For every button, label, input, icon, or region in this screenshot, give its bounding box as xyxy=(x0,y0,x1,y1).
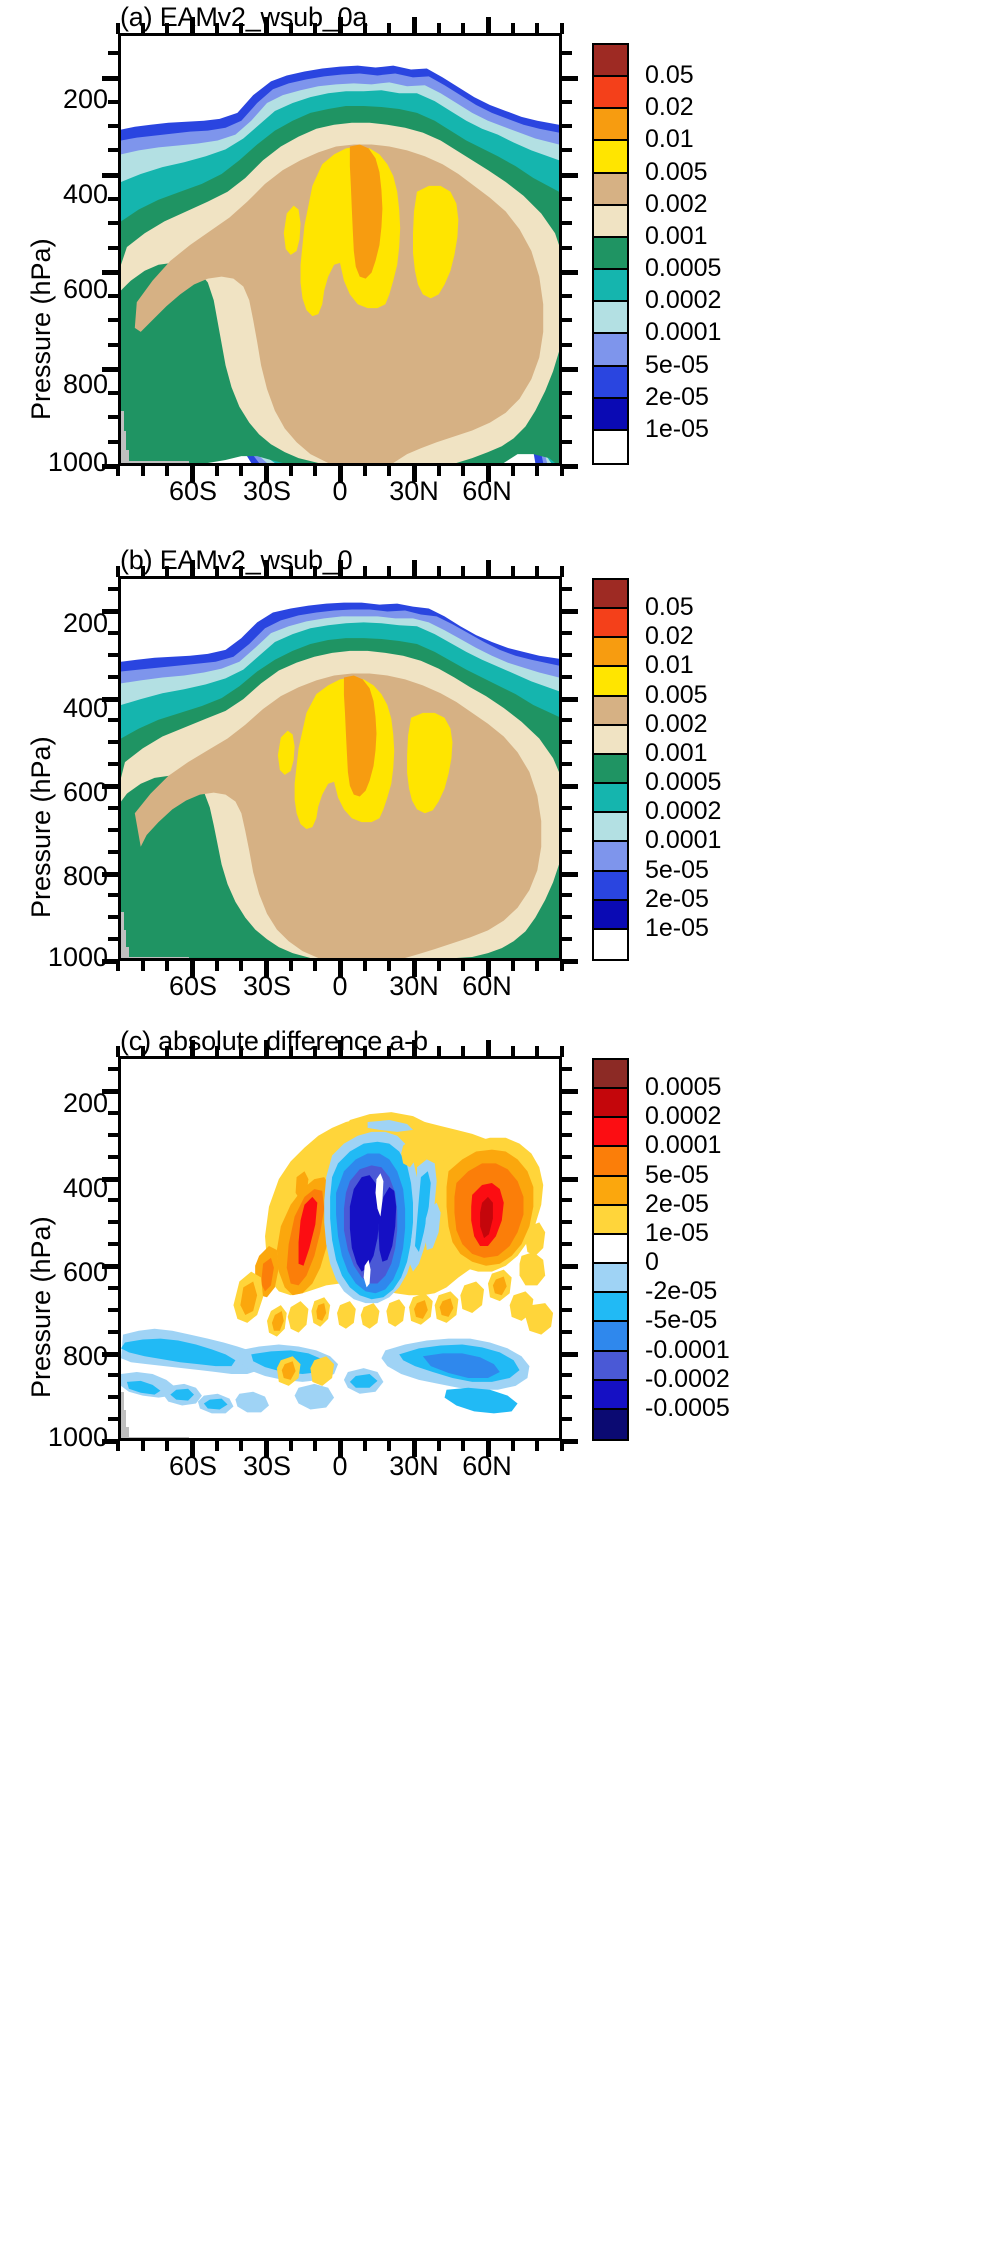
colorbar-cell xyxy=(594,813,627,842)
terrain-mask xyxy=(121,947,129,961)
axis-tick xyxy=(561,915,572,919)
axis-tick xyxy=(108,124,119,128)
colorbar-label: -2e-05 xyxy=(645,1277,717,1306)
terrain-mask xyxy=(121,450,129,466)
axis-tick xyxy=(108,806,119,810)
axis-tick xyxy=(560,23,564,34)
colorbar-label: 1e-05 xyxy=(645,1219,709,1248)
colorbar-label: 0.01 xyxy=(645,651,694,680)
axis-tick xyxy=(363,1440,367,1451)
axis-tick xyxy=(561,937,572,941)
axis-tick xyxy=(461,465,465,476)
axis-tick xyxy=(486,560,491,577)
axis-tick xyxy=(116,23,120,34)
colorbar-cell xyxy=(594,755,627,784)
axis-tick xyxy=(511,566,515,577)
axis-tick xyxy=(215,23,219,34)
panel-c-ytick-400: 400 xyxy=(20,1173,108,1204)
axis-tick xyxy=(437,1046,441,1057)
axis-tick xyxy=(108,197,119,201)
colorbar-cell xyxy=(594,238,627,270)
colorbar-cell xyxy=(594,1118,627,1147)
axis-tick xyxy=(561,1308,572,1312)
axis-tick xyxy=(313,465,317,476)
terrain-mask xyxy=(121,957,189,961)
axis-tick xyxy=(165,465,169,476)
axis-tick xyxy=(437,566,441,577)
axis-tick xyxy=(511,23,515,34)
axis-tick xyxy=(561,872,578,877)
axis-tick xyxy=(561,1177,578,1182)
axis-tick xyxy=(561,675,572,679)
axis-tick xyxy=(363,1046,367,1057)
axis-tick xyxy=(108,1111,119,1115)
panel-b-contours xyxy=(121,579,559,958)
colorbar-cell xyxy=(594,638,627,667)
axis-tick xyxy=(264,560,269,577)
axis-tick xyxy=(561,415,572,419)
axis-tick xyxy=(511,960,515,971)
axis-tick xyxy=(486,17,491,34)
axis-tick xyxy=(412,17,417,34)
axis-tick xyxy=(313,23,317,34)
axis-tick xyxy=(561,893,572,897)
axis-tick xyxy=(116,960,120,971)
axis-tick xyxy=(239,1440,243,1451)
colorbar-cell xyxy=(594,609,627,638)
colorbar-label: 0.0005 xyxy=(645,768,721,797)
axis-tick xyxy=(108,1417,119,1421)
axis-tick xyxy=(108,653,119,657)
axis-tick xyxy=(108,318,119,322)
colorbar-label: 5e-05 xyxy=(645,1161,709,1190)
axis-tick xyxy=(313,1046,317,1057)
axis-tick xyxy=(387,23,391,34)
colorbar-cell xyxy=(594,580,627,609)
axis-tick xyxy=(338,1040,343,1057)
axis-tick xyxy=(108,1373,119,1377)
axis-tick xyxy=(313,566,317,577)
axis-tick xyxy=(102,367,119,372)
axis-tick xyxy=(141,23,145,34)
axis-tick xyxy=(412,1440,417,1457)
axis-tick xyxy=(363,23,367,34)
axis-tick xyxy=(102,872,119,877)
axis-tick xyxy=(165,566,169,577)
axis-tick xyxy=(264,17,269,34)
axis-tick xyxy=(102,270,119,275)
axis-tick xyxy=(561,173,578,178)
axis-tick xyxy=(264,960,269,977)
panel-b-ytick-400: 400 xyxy=(20,693,108,724)
axis-tick xyxy=(190,960,195,977)
axis-tick xyxy=(561,318,572,322)
colorbar-cell xyxy=(594,174,627,206)
colorbar-label: 0.02 xyxy=(645,93,694,122)
axis-tick xyxy=(108,1198,119,1202)
axis-tick xyxy=(412,465,417,482)
axis-tick xyxy=(116,1046,120,1057)
colorbar-label: 0.0002 xyxy=(645,797,721,826)
panel-b-ytick-200: 200 xyxy=(20,608,108,639)
axis-tick xyxy=(437,960,441,971)
colorbar-cell xyxy=(594,77,627,109)
axis-tick xyxy=(561,1198,572,1202)
axis-tick xyxy=(102,76,119,81)
axis-tick xyxy=(561,697,578,702)
axis-tick xyxy=(338,17,343,34)
axis-tick xyxy=(108,675,119,679)
axis-tick xyxy=(108,915,119,919)
axis-tick xyxy=(535,23,539,34)
axis-tick xyxy=(108,937,119,941)
axis-tick xyxy=(561,1155,572,1159)
axis-tick xyxy=(289,465,293,476)
axis-tick xyxy=(535,1440,539,1451)
axis-tick xyxy=(141,1046,145,1057)
colorbar-label: 0.002 xyxy=(645,710,708,739)
axis-tick xyxy=(239,23,243,34)
axis-tick xyxy=(338,1440,343,1457)
axis-tick xyxy=(561,391,572,395)
colorbar-cell xyxy=(594,1410,627,1439)
colorbar-cell xyxy=(594,1322,627,1351)
axis-tick xyxy=(561,784,578,789)
panel-a-title: (a) EAMv2_wsub_0a xyxy=(120,2,367,33)
axis-tick xyxy=(387,960,391,971)
terrain-mask xyxy=(121,1410,126,1428)
axis-tick xyxy=(461,1046,465,1057)
axis-tick xyxy=(102,173,119,178)
colorbar-label: 0.02 xyxy=(645,622,694,651)
axis-tick xyxy=(561,221,572,225)
axis-tick xyxy=(215,566,219,577)
axis-tick xyxy=(215,1440,219,1451)
colorbar-cell xyxy=(594,726,627,755)
axis-tick xyxy=(561,270,578,275)
axis-tick xyxy=(412,1040,417,1057)
axis-tick xyxy=(190,465,195,482)
axis-tick xyxy=(165,1046,169,1057)
axis-tick xyxy=(363,960,367,971)
axis-tick xyxy=(190,17,195,34)
axis-tick xyxy=(561,246,572,250)
axis-tick xyxy=(561,587,572,591)
axis-tick xyxy=(108,1308,119,1312)
axis-tick xyxy=(561,1373,572,1377)
axis-tick xyxy=(535,566,539,577)
axis-tick xyxy=(511,1046,515,1057)
colorbar-label: 0.005 xyxy=(645,158,708,187)
terrain-mask xyxy=(121,411,124,433)
axis-tick xyxy=(461,23,465,34)
axis-tick xyxy=(102,697,119,702)
colorbar-label: 0.001 xyxy=(645,739,708,768)
axis-tick xyxy=(535,960,539,971)
axis-tick xyxy=(461,960,465,971)
axis-tick xyxy=(116,566,120,577)
axis-tick xyxy=(102,1177,119,1182)
axis-tick xyxy=(264,1440,269,1457)
colorbar-label: -0.0001 xyxy=(645,1336,730,1365)
colorbar-label: 0.0002 xyxy=(645,1102,721,1131)
axis-tick xyxy=(561,124,572,128)
axis-tick xyxy=(141,1440,145,1451)
colorbar-cell xyxy=(594,1293,627,1322)
axis-tick xyxy=(108,1220,119,1224)
axis-tick xyxy=(561,197,572,201)
colorbar-label: 0.0001 xyxy=(645,826,721,855)
colorbar-cell xyxy=(594,1147,627,1176)
colorbar-cell xyxy=(594,872,627,901)
axis-tick xyxy=(461,566,465,577)
axis-tick xyxy=(561,806,572,810)
panel-b-ytick-1000: 1000 xyxy=(6,942,108,973)
axis-tick xyxy=(141,566,145,577)
colorbar-label: -5e-05 xyxy=(645,1306,717,1335)
axis-tick xyxy=(561,294,572,298)
colorbar-cell xyxy=(594,1352,627,1381)
axis-tick xyxy=(108,294,119,298)
axis-tick xyxy=(116,1440,120,1451)
axis-tick xyxy=(560,1440,564,1451)
axis-tick xyxy=(289,1440,293,1451)
axis-tick xyxy=(313,1440,317,1451)
colorbar-label: 2e-05 xyxy=(645,885,709,914)
axis-tick xyxy=(363,465,367,476)
axis-tick xyxy=(561,1242,572,1246)
axis-tick xyxy=(215,465,219,476)
axis-tick xyxy=(561,367,578,372)
axis-tick xyxy=(108,740,119,744)
axis-tick xyxy=(338,465,343,482)
colorbar-cell xyxy=(594,141,627,173)
axis-tick xyxy=(387,1440,391,1451)
axis-tick xyxy=(561,148,572,152)
axis-tick xyxy=(215,1046,219,1057)
terrain-mask xyxy=(121,1392,124,1412)
terrain-mask xyxy=(121,1427,129,1441)
axis-tick xyxy=(437,465,441,476)
axis-tick xyxy=(561,1286,572,1290)
panel-a-ytick-400: 400 xyxy=(20,179,108,210)
axis-tick xyxy=(190,560,195,577)
axis-tick xyxy=(108,1395,119,1399)
colorbar-cell xyxy=(594,1060,627,1089)
panel-a-ytick-1000: 1000 xyxy=(6,447,108,478)
colorbar-cell xyxy=(594,784,627,813)
colorbar-cell xyxy=(594,1177,627,1206)
axis-tick xyxy=(561,740,572,744)
colorbar-label: -0.0005 xyxy=(645,1394,730,1423)
terrain-mask xyxy=(121,912,124,932)
terrain-mask xyxy=(121,930,126,948)
colorbar-label: 0.0005 xyxy=(645,254,721,283)
axis-tick xyxy=(102,1264,119,1269)
colorbar-label: 5e-05 xyxy=(645,351,709,380)
axis-tick xyxy=(486,960,491,977)
panel-c-ytick-600: 600 xyxy=(20,1257,108,1288)
panel-b-colorbar xyxy=(592,578,629,961)
axis-tick xyxy=(108,246,119,250)
colorbar-label: 2e-05 xyxy=(645,383,709,412)
axis-tick xyxy=(412,560,417,577)
panel-a-ytick-600: 600 xyxy=(20,274,108,305)
colorbar-label: 0.0005 xyxy=(645,1073,721,1102)
axis-tick xyxy=(561,1264,578,1269)
colorbar-label: 0.001 xyxy=(645,222,708,251)
axis-tick xyxy=(561,1352,578,1357)
axis-tick xyxy=(511,1440,515,1451)
axis-tick xyxy=(108,718,119,722)
axis-tick xyxy=(338,560,343,577)
axis-tick xyxy=(165,23,169,34)
axis-tick xyxy=(108,1242,119,1246)
axis-tick xyxy=(289,1046,293,1057)
colorbar-label: 0.05 xyxy=(645,593,694,622)
axis-tick xyxy=(561,1417,572,1421)
colorbar-cell xyxy=(594,302,627,334)
axis-tick xyxy=(108,893,119,897)
axis-tick xyxy=(486,1040,491,1057)
colorbar-cell xyxy=(594,1089,627,1118)
axis-tick xyxy=(102,784,119,789)
axis-tick xyxy=(561,609,578,614)
axis-tick xyxy=(108,1330,119,1334)
axis-tick xyxy=(215,960,219,971)
axis-tick xyxy=(108,828,119,832)
axis-tick xyxy=(561,850,572,854)
axis-tick xyxy=(102,1089,119,1094)
panel-b-ytick-800: 800 xyxy=(20,861,108,892)
axis-tick xyxy=(313,960,317,971)
axis-tick xyxy=(561,1220,572,1224)
colorbar-cell xyxy=(594,367,627,399)
axis-tick xyxy=(190,1040,195,1057)
axis-tick xyxy=(264,465,269,482)
axis-tick xyxy=(561,828,572,832)
axis-tick xyxy=(108,1155,119,1159)
colorbar-cell xyxy=(594,109,627,141)
figure-root: (a) EAMv2_wsub_0a xyxy=(0,0,997,2246)
colorbar-cell xyxy=(594,206,627,238)
colorbar-cell xyxy=(594,1235,627,1264)
axis-tick xyxy=(190,1440,195,1457)
panel-c-colorbar xyxy=(592,1058,629,1441)
colorbar-label: 0.0001 xyxy=(645,1131,721,1160)
axis-tick xyxy=(108,440,119,444)
colorbar-cell xyxy=(594,1381,627,1410)
terrain-mask xyxy=(121,1437,189,1441)
axis-tick xyxy=(461,1440,465,1451)
axis-tick xyxy=(108,1133,119,1137)
axis-tick xyxy=(239,465,243,476)
colorbar-label: 1e-05 xyxy=(645,914,709,943)
axis-tick xyxy=(561,1067,572,1071)
axis-tick xyxy=(108,415,119,419)
axis-tick xyxy=(108,343,119,347)
panel-b-title: (b) EAMv2_wsub_0 xyxy=(120,545,352,576)
axis-tick xyxy=(561,1089,578,1094)
axis-tick xyxy=(561,1395,572,1399)
axis-tick xyxy=(561,51,572,55)
axis-tick xyxy=(141,960,145,971)
colorbar-label: 0.0001 xyxy=(645,318,721,347)
panel-c-contours xyxy=(121,1059,559,1438)
axis-tick xyxy=(535,1046,539,1057)
axis-tick xyxy=(108,148,119,152)
panel-c-ytick-800: 800 xyxy=(20,1341,108,1372)
colorbar-cell xyxy=(594,901,627,930)
axis-tick xyxy=(561,343,572,347)
colorbar-label: 0.002 xyxy=(645,190,708,219)
axis-tick xyxy=(108,1067,119,1071)
axis-tick xyxy=(561,1330,572,1334)
axis-tick xyxy=(412,960,417,977)
axis-tick xyxy=(108,762,119,766)
panel-b-ytick-600: 600 xyxy=(20,777,108,808)
axis-tick xyxy=(437,23,441,34)
axis-tick xyxy=(486,465,491,482)
axis-tick xyxy=(108,631,119,635)
axis-tick xyxy=(165,960,169,971)
axis-tick xyxy=(561,440,572,444)
axis-tick xyxy=(108,100,119,104)
axis-tick xyxy=(561,76,578,81)
axis-tick xyxy=(560,465,564,476)
axis-tick xyxy=(561,718,572,722)
panel-a-colorbar xyxy=(592,43,629,465)
axis-tick xyxy=(535,465,539,476)
axis-tick xyxy=(289,23,293,34)
axis-tick xyxy=(108,587,119,591)
axis-tick xyxy=(102,1352,119,1357)
colorbar-label: 1e-05 xyxy=(645,415,709,444)
colorbar-label: 0.005 xyxy=(645,681,708,710)
axis-tick xyxy=(108,850,119,854)
panel-a-ytick-200: 200 xyxy=(20,84,108,115)
axis-tick xyxy=(486,1440,491,1457)
colorbar-label: 0.05 xyxy=(645,61,694,90)
axis-tick xyxy=(102,609,119,614)
axis-tick xyxy=(511,465,515,476)
colorbar-cell xyxy=(594,270,627,302)
axis-tick xyxy=(560,960,564,971)
axis-tick xyxy=(363,566,367,577)
axis-tick xyxy=(108,1286,119,1290)
panel-c-ytick-200: 200 xyxy=(20,1088,108,1119)
axis-tick xyxy=(239,566,243,577)
colorbar-label: 0 xyxy=(645,1248,659,1277)
axis-tick xyxy=(561,1111,572,1115)
colorbar-cell xyxy=(594,45,627,77)
colorbar-cell xyxy=(594,842,627,871)
axis-tick xyxy=(387,1046,391,1057)
axis-tick xyxy=(289,566,293,577)
axis-tick xyxy=(338,960,343,977)
colorbar-cell xyxy=(594,1264,627,1293)
axis-tick xyxy=(141,465,145,476)
axis-tick xyxy=(264,1040,269,1057)
colorbar-cell xyxy=(594,334,627,366)
axis-tick xyxy=(116,465,120,476)
colorbar-label: 0.01 xyxy=(645,125,694,154)
panel-a-ytick-800: 800 xyxy=(20,369,108,400)
colorbar-cell xyxy=(594,697,627,726)
colorbar-cell xyxy=(594,399,627,431)
axis-tick xyxy=(239,960,243,971)
axis-tick xyxy=(289,960,293,971)
